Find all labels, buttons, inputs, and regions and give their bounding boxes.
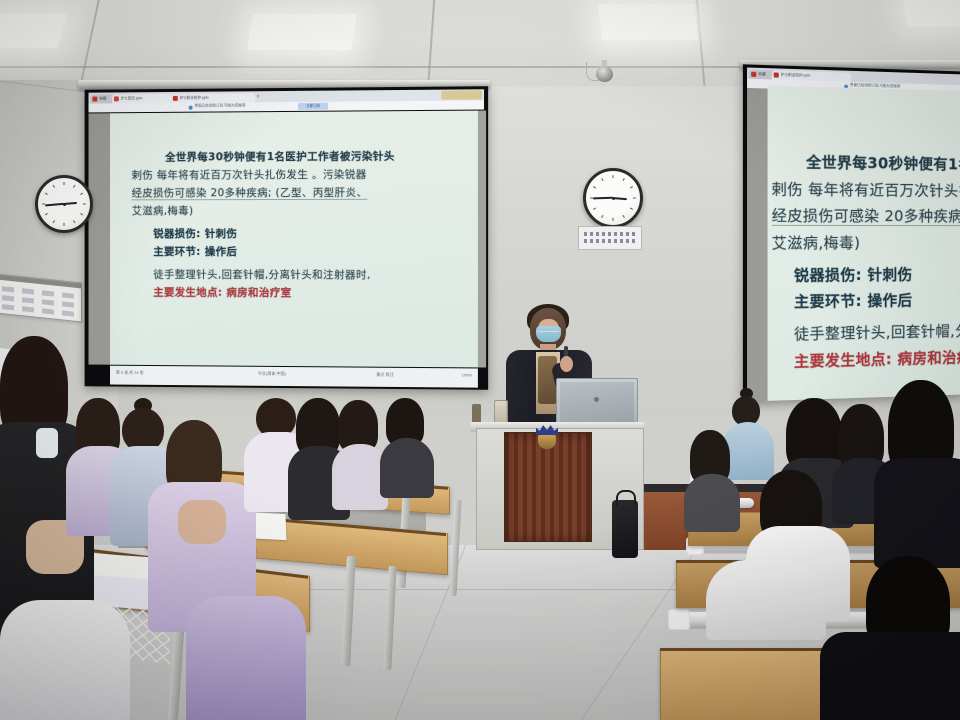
- slide-line-0: 全世界每30秒钟便有1名医护工作者被污染针头: [806, 153, 960, 175]
- info-icon: [189, 105, 193, 109]
- status-right[interactable]: 备注 批注: [376, 372, 393, 378]
- ceiling-light: [903, 0, 960, 26]
- surgical-mask: [536, 326, 561, 342]
- podium-area: [468, 300, 646, 600]
- slide-line-3: 艾滋病,梅毒): [132, 205, 194, 217]
- slide-canvas: 全世界每30秒钟便有1名医护工作者被污染针头 剌伤 每年将有近百万次针头扎伤发生…: [110, 111, 478, 368]
- wall-clock-left: [35, 175, 93, 233]
- dome-security-camera: [596, 60, 613, 82]
- slide-line-5: 主要环节: 操作后: [794, 292, 912, 312]
- slide-line-4: 锐器损伤: 针刺伤: [794, 265, 912, 284]
- slide-line-2: 经皮损伤可感染 20多种疾病; (乙型、丙型肝炎、: [772, 207, 960, 227]
- main-projection-screen: 收藏 护士首页.pptx 护士职业防护.pptx + 界面已检测到订阅,可能为您…: [85, 86, 489, 390]
- floor-bag: [612, 500, 638, 558]
- clock-plaque: [578, 226, 642, 250]
- slide-line-2: 经皮损伤可感染 20多种疾病; (乙型、丙型肝炎、: [132, 186, 368, 200]
- student-mask: [36, 428, 58, 458]
- university-crest-icon: [536, 424, 558, 450]
- browser-chrome: 收藏 护士首页.pptx 护士职业防护.pptx + 界面已检测到订阅,可能为您…: [89, 89, 485, 112]
- slide-line-6: 徒手整理针头,回套针帽,分离针头和注射器时,: [794, 320, 960, 344]
- slide-line-0: 全世界每30秒钟便有1名医护工作者被污染针头: [165, 150, 395, 163]
- ceiling-light: [598, 4, 698, 40]
- tab-label: 护士首页.pptx: [121, 96, 143, 100]
- student-arm: [178, 500, 226, 544]
- slide-line-7: 主要发生地点: 病房和治疗室: [153, 287, 291, 299]
- slide-line-5: 主要环节: 操作后: [153, 246, 237, 258]
- wall-clock-right: [583, 168, 643, 228]
- tab-label: 护士职业防护.pptx: [180, 95, 209, 99]
- tab-label: 收藏: [758, 71, 765, 75]
- secondary-projection-screen: 收藏 护士职业防护.pptx 界面已检测到订阅,可能为您推荐 全世界每30秒钟便…: [743, 64, 960, 401]
- window-controls[interactable]: [441, 90, 482, 99]
- lecture-hall-photo: 收藏 护士首页.pptx 护士职业防护.pptx + 界面已检测到订阅,可能为您…: [0, 0, 960, 720]
- tab-label: 收藏: [99, 96, 106, 100]
- ceiling-light: [0, 14, 67, 48]
- wall-notice-board: [0, 273, 82, 322]
- slide-body: 全世界每30秒钟便有1名医护工作者被污染针头 剌伤 每年将有近百万次针头扎伤发生…: [110, 147, 478, 303]
- slide-line-6: 徒手整理针头,回套针帽,分离针头和注射器时,: [153, 269, 370, 281]
- browser-tab-1[interactable]: 护士首页.pptx: [112, 93, 178, 102]
- slide-line-3: 艾滋病,梅毒): [772, 234, 861, 252]
- status-center: 中文(简体,中国): [258, 371, 286, 377]
- rail-cap: [668, 609, 690, 630]
- tab-label: 护士职业防护.pptx: [781, 72, 811, 77]
- infobar-action-button[interactable]: 立即订阅: [298, 103, 328, 110]
- powerpoint-statusbar: 第 6 张,共 24 张 中文(简体,中国) 备注 批注 100%: [110, 366, 478, 388]
- slide-line-1: 剌伤 每年将有近百万次针头扎伤发生 。污染锐器: [772, 180, 960, 200]
- presenter-laptop[interactable]: [556, 378, 638, 428]
- ceiling-light: [247, 14, 357, 50]
- slide-body-right: 全世界每30秒钟便有1名医护工作者被污染针头 剌伤 每年将有近百万次针头扎伤发生…: [768, 149, 960, 376]
- status-left: 第 6 张,共 24 张: [116, 370, 144, 376]
- slide-line-7: 主要发生地点: 病房和治疗室: [794, 348, 960, 371]
- infobar-message: 界面已检测到订阅,可能为您推荐: [195, 103, 246, 108]
- browser-tab-2[interactable]: 护士职业防护.pptx: [171, 93, 255, 103]
- slide-canvas-right: 全世界每30秒钟便有1名医护工作者被污染针头 剌伤 每年将有近百万次针头扎伤发生…: [768, 85, 960, 400]
- new-tab-button[interactable]: +: [254, 93, 262, 101]
- slide-line-4: 锐器损伤: 针刺伤: [153, 228, 237, 240]
- slide-line-1: 剌伤 每年将有近百万次针头扎伤发生 。污染锐器: [132, 168, 367, 181]
